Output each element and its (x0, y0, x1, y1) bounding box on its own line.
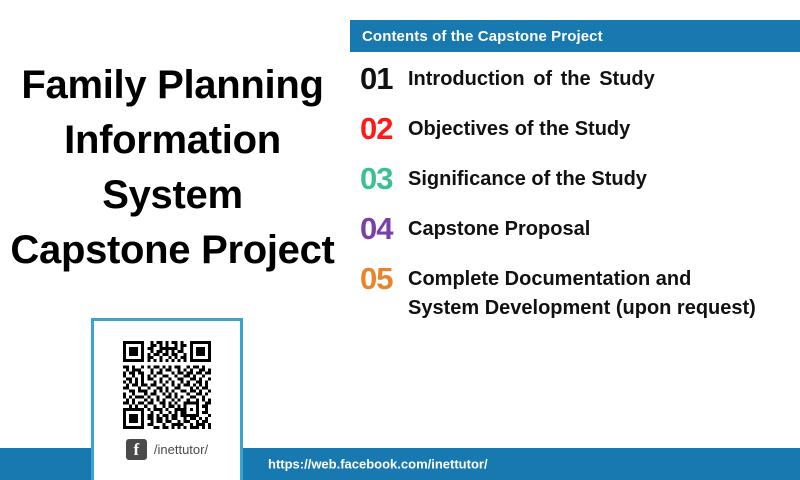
list-item[interactable]: 04 Capstone Proposal (350, 212, 800, 246)
list-item-label: Capstone Proposal (408, 212, 764, 244)
list-item-label: Complete Documentation and System Develo… (408, 262, 764, 323)
slide-canvas: Family Planning Information System Capst… (0, 0, 800, 480)
list-item-label: Objectives of the Study (408, 112, 764, 144)
qr-code-icon (123, 341, 211, 429)
contents-header-label: Contents of the Capstone Project (350, 28, 603, 45)
list-item-number: 05 (350, 262, 408, 296)
contents-header-bar: Contents of the Capstone Project (350, 20, 800, 52)
list-item[interactable]: 05 Complete Documentation and System Dev… (350, 262, 800, 323)
facebook-handle-row[interactable]: /inettutor/ (94, 439, 240, 460)
contents-panel: Contents of the Capstone Project 01 Intr… (350, 0, 800, 480)
qr-contact-card: /inettutor/ (91, 318, 243, 480)
list-item[interactable]: 01 Introduction of the Study (350, 62, 800, 96)
list-item-number: 03 (350, 162, 408, 196)
list-item-number: 02 (350, 112, 408, 146)
footer-url-label[interactable]: https://web.facebook.com/inettutor/ (268, 457, 488, 472)
page-title: Family Planning Information System Capst… (0, 58, 359, 278)
list-item-label: Significance of the Study (408, 162, 764, 194)
facebook-handle-label: /inettutor/ (154, 442, 208, 457)
list-item-label: Introduction of the Study (408, 62, 764, 94)
list-item[interactable]: 02 Objectives of the Study (350, 112, 800, 146)
facebook-icon (126, 439, 147, 460)
contents-list: 01 Introduction of the Study 02 Objectiv… (350, 62, 800, 339)
list-item-number: 04 (350, 212, 408, 246)
left-panel: Family Planning Information System Capst… (0, 0, 345, 480)
list-item[interactable]: 03 Significance of the Study (350, 162, 800, 196)
list-item-number: 01 (350, 62, 408, 96)
